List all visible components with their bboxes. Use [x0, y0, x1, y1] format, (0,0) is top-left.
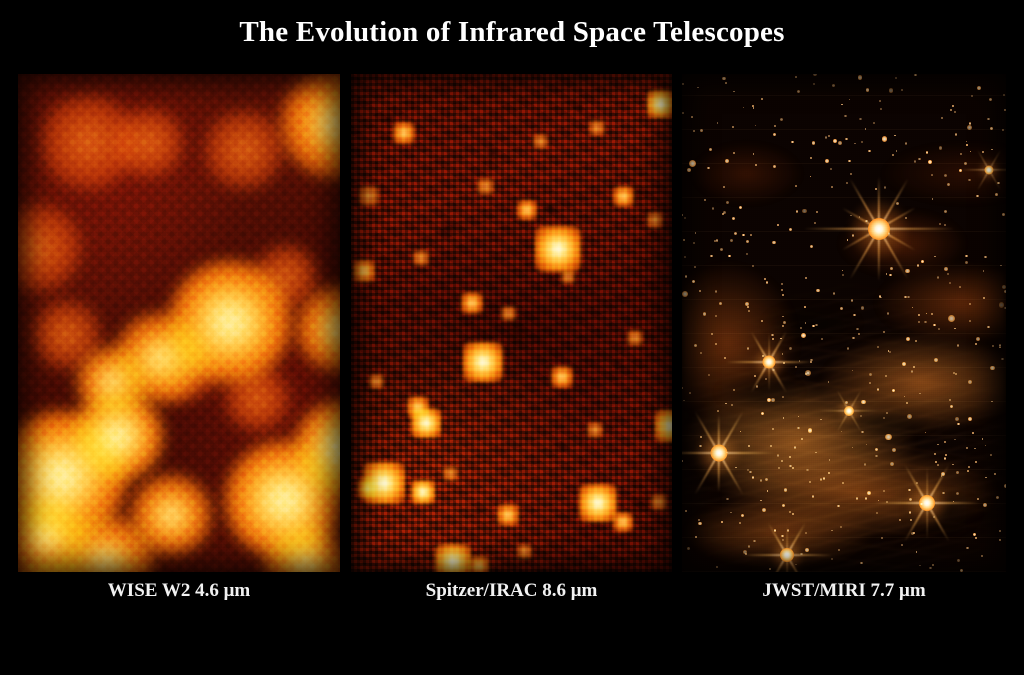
panel-spitzer[interactable] — [351, 74, 672, 572]
spitzer-pixelation-overlay — [351, 74, 672, 572]
wise-sky-image — [18, 74, 340, 572]
spitzer-sky-image — [351, 74, 672, 572]
caption-wise: WISE W2 4.6 μm — [18, 580, 340, 602]
jwst-sky-image — [682, 74, 1006, 572]
caption-spitzer: Spitzer/IRAC 8.6 μm — [351, 580, 672, 602]
figure-canvas: The Evolution of Infrared Space Telescop… — [0, 0, 1024, 675]
caption-jwst: JWST/MIRI 7.7 μm — [682, 580, 1006, 602]
jwst-grain-overlay — [682, 74, 1006, 572]
page-title: The Evolution of Infrared Space Telescop… — [0, 16, 1024, 49]
panel-wise[interactable] — [18, 74, 340, 572]
panel-jwst[interactable] — [682, 74, 1006, 572]
wise-blocking-overlay — [18, 74, 340, 572]
